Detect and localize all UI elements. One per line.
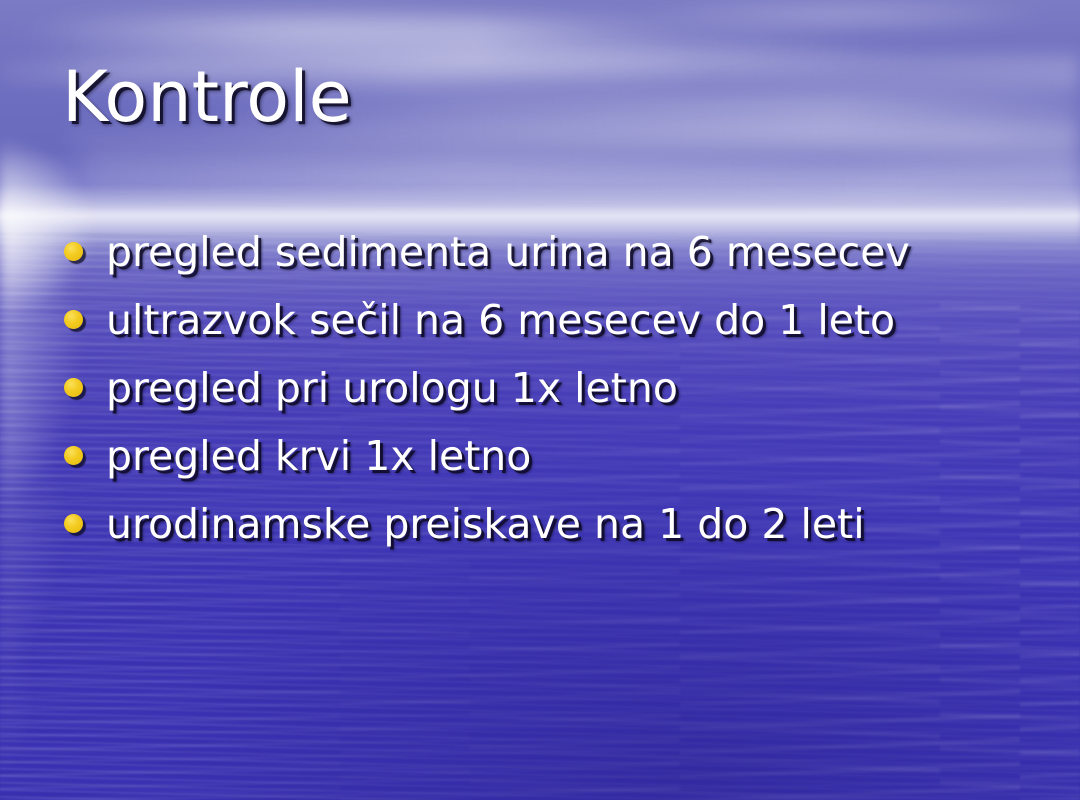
bullet-dot-icon [64,446,83,465]
list-item: pregled pri urologu 1x letno [64,362,1054,430]
slide-title: Kontrole [62,62,352,132]
list-item-label: pregled krvi 1x letno [106,430,1054,482]
bullet-list: pregled sedimenta urina na 6 mesecev ult… [64,226,1054,566]
list-item-label: ultrazvok sečil na 6 mesecev do 1 leto [106,294,1054,346]
slide-content: Kontrole pregled sedimenta urina na 6 me… [0,0,1080,800]
bullet-dot-icon [64,242,83,261]
list-item: urodinamske preiskave na 1 do 2 leti [64,498,1054,566]
list-item-label: pregled pri urologu 1x letno [106,362,1054,414]
bullet-dot-icon [64,310,83,329]
presentation-slide: Kontrole pregled sedimenta urina na 6 me… [0,0,1080,800]
list-item: pregled sedimenta urina na 6 mesecev [64,226,1054,294]
list-item-label: urodinamske preiskave na 1 do 2 leti [106,498,1054,550]
bullet-dot-icon [64,378,83,397]
list-item-label: pregled sedimenta urina na 6 mesecev [106,226,1054,278]
bullet-dot-icon [64,514,83,533]
list-item: ultrazvok sečil na 6 mesecev do 1 leto [64,294,1054,362]
list-item: pregled krvi 1x letno [64,430,1054,498]
